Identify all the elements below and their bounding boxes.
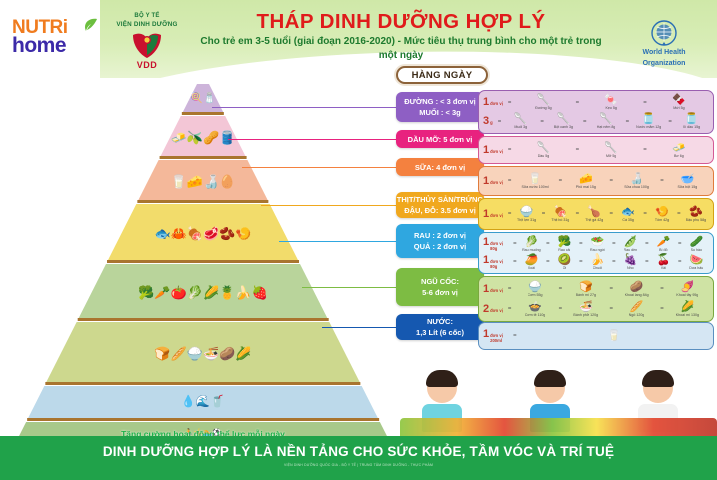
food-item: 🥭Xoài — [519, 254, 544, 271]
unit-label: 1đơn vị 80g — [483, 237, 508, 251]
food-caption: Ngô 120g — [629, 313, 645, 318]
food-item: 🥄Đường 5g — [513, 94, 573, 111]
food-item: 🥦Rau cải — [552, 236, 577, 253]
pyramid-tier-items: 🥦🥕🍅🥬🌽🍍🍌🍓 — [138, 286, 268, 299]
unit-label: 1đơn vị — [483, 209, 503, 220]
food-caption: Rau muống — [522, 248, 541, 253]
equals-sign: = — [576, 211, 580, 217]
unit-measure: đơn vị — [490, 288, 503, 293]
food-caption: Nước mắm 12g — [636, 125, 661, 130]
food-icon: 🥬 — [525, 236, 539, 248]
food-item: 🥛 — [519, 330, 709, 342]
label-chip-line: MUỐI : < 3g — [419, 107, 460, 118]
food-caption: Bí đỏ — [659, 248, 667, 253]
pyramid-tier-oils-fats: 🧈🫒🥜🛢️ — [160, 116, 247, 158]
food-icon: 🐟 — [621, 206, 635, 218]
footer-slogan: DINH DƯỠNG HỢP LÝ LÀ NỀN TẢNG CHO SỨC KH… — [0, 444, 717, 459]
brand-logo[interactable]: NUTRi home — [12, 20, 100, 55]
food-caption: Su hào — [691, 248, 702, 253]
equals-sign: = — [609, 306, 613, 312]
pyramid-tier-items: 🍬🍭🧂🍫 — [182, 94, 224, 104]
equals-sign: = — [677, 211, 681, 217]
equals-sign: = — [540, 119, 544, 125]
unit-count: 1 — [483, 329, 489, 340]
footer-subnote: VIỆN DINH DƯỠNG QUỐC GIA - BỘ Y TẾ | TRU… — [0, 463, 717, 467]
equals-sign: = — [579, 259, 583, 265]
pyramid-tier-separator — [160, 156, 247, 159]
unit-label: 3g — [483, 116, 493, 127]
equals-sign: = — [576, 147, 580, 153]
equals-sign: = — [576, 100, 580, 106]
unit-measure: đơn vị 80g — [490, 259, 508, 269]
food-row: 1đơn vị=🥄Đường 5g=🍬Kẹo 5g=🍫Mứt 5g — [483, 93, 709, 112]
food-icon: 🫙 — [642, 113, 656, 125]
food-row: 3g=🥄Muối 3g=🥄Bột canh 3g=🥄Hạt nêm 8g=🫙Nư… — [483, 112, 709, 131]
pyramid-tier-items: 🧈🫒🥜🛢️ — [171, 131, 236, 144]
food-item: 🧀Phô mai 15g — [564, 173, 607, 190]
food-caption: Khoai mì 130g — [676, 313, 699, 318]
equals-sign: = — [542, 211, 546, 217]
food-icon: 🍶 — [630, 173, 644, 185]
food-icon: 🥭 — [525, 254, 539, 266]
food-item: 🌽Khoai mì 130g — [666, 301, 709, 318]
connector-line-oils-fats — [228, 139, 397, 140]
food-icon: 🥄 — [537, 94, 551, 106]
food-icon: 🧈 — [672, 142, 686, 154]
kid-hair — [426, 370, 458, 387]
equals-sign: = — [643, 211, 647, 217]
equals-sign: = — [660, 286, 664, 292]
food-caption: Rau cải — [558, 248, 570, 253]
food-caption: Bánh phở 120g — [573, 313, 598, 318]
equals-sign: = — [609, 178, 613, 184]
food-item: 🫙Xì dầu 15g — [674, 113, 709, 130]
equals-sign: = — [579, 241, 583, 247]
food-icon: 🍇 — [623, 254, 637, 266]
equals-sign: = — [508, 211, 512, 217]
daily-badge: HÀNG NGÀY — [396, 66, 488, 84]
food-caption: Kẹo 5g — [605, 106, 616, 111]
food-item: 🥔Khoai lang 84g — [615, 281, 658, 298]
connector-line-cereals — [302, 287, 397, 288]
equals-sign: = — [559, 178, 563, 184]
food-item: 🍌Chuối — [585, 254, 610, 271]
who-emblem-icon — [651, 20, 677, 46]
pyramid-tier-protein: 🐟🦀🍖🥩🫘🍤 — [107, 204, 299, 262]
food-icon: 🥦 — [558, 236, 572, 248]
food-row: 1đơn vị=🥄Dầu 5g=🥄Mỡ 5g=🧈Bơ 6g — [483, 139, 709, 161]
food-icon: 🥄 — [537, 142, 551, 154]
unit-measure: đơn vị — [490, 180, 503, 185]
food-icon: 🥛 — [607, 330, 621, 342]
unit-measure: đơn vị — [490, 213, 503, 218]
equals-sign: = — [583, 119, 587, 125]
equals-sign: = — [546, 259, 550, 265]
pyramid-tier-items: 🥛🧀🍶🥚 — [171, 175, 236, 188]
food-caption: Bánh mì 27g — [576, 293, 596, 298]
label-chip-water: NƯỚC:1,3 Lít (6 cốc) — [396, 314, 484, 340]
food-item: 🍉Dưa hấu — [684, 254, 709, 271]
food-item: 🥝Ổi — [552, 254, 577, 271]
unit-label: 1đơn vị — [483, 176, 503, 187]
food-item: 🍞Bánh mì 27g — [564, 281, 607, 298]
pyramid-tier-separator — [78, 318, 329, 321]
food-icon: 🌽 — [681, 301, 695, 313]
protein-panel: 1đơn vị=🍚Thịt lợn 31g=🍖Thịt bò 31g=🍗Thịt… — [478, 198, 714, 230]
equals-sign: = — [645, 259, 649, 265]
brand-logo-line2: home — [12, 36, 100, 55]
label-chip-line: RAU : 2 đơn vị — [414, 230, 466, 241]
equals-sign: = — [678, 241, 682, 247]
unit-label: 2đơn vị — [483, 304, 503, 315]
food-caption: Cơm 55g — [528, 293, 543, 298]
food-row: 1đơn vị 80g=🥬Rau muống=🥦Rau cải=🥗Rau ngó… — [483, 235, 709, 253]
food-icon: 🫙 — [685, 113, 699, 125]
food-row: 1đơn vị=🍚Cơm 55g=🍞Bánh mì 27g=🥔Khoai lan… — [483, 279, 709, 299]
kid-hair — [642, 370, 674, 387]
oils-fats-panel: 1đơn vị=🥄Dầu 5g=🥄Mỡ 5g=🧈Bơ 6g — [478, 136, 714, 164]
daily-badge-label: HÀNG NGÀY — [412, 70, 473, 81]
unit-count: 3 — [483, 116, 489, 127]
food-caption: Nho — [627, 266, 634, 271]
food-caption: Thịt gà 42g — [585, 218, 603, 223]
food-icon: 🥄 — [514, 113, 528, 125]
connector-line-protein — [261, 205, 397, 206]
equals-sign: = — [643, 100, 647, 106]
food-caption: Hạt nêm 8g — [597, 125, 616, 130]
food-icon: 🍒 — [656, 254, 670, 266]
pyramid-tier-cereals: 🍞🥖🍚🍜🥔🌽 — [45, 322, 360, 384]
equals-sign: = — [498, 119, 502, 125]
kid-hair — [534, 370, 566, 387]
food-caption: Cá 35g — [622, 218, 634, 223]
food-caption: Vải — [661, 266, 666, 271]
equals-sign: = — [513, 259, 517, 265]
food-icon: 🥣 — [681, 173, 695, 185]
pyramid-tier-separator — [45, 382, 360, 385]
food-item: 🥕Bí đỏ — [651, 236, 676, 253]
unit-measure: g — [490, 120, 493, 125]
food-pyramid: 🍬🍭🧂🍫🧈🫒🥜🛢️🥛🧀🍶🥚🐟🦀🍖🥩🫘🍤🥦🥕🍅🥬🌽🍍🍌🍓🍞🥖🍚🍜🥔🌽💧🌊🥤🏃🤸🏊⚽… — [8, 84, 398, 444]
food-item: 🍫Mứt 5g — [649, 94, 709, 111]
food-icon: 🥄 — [604, 142, 618, 154]
food-caption: Cơm tẻ 110g — [525, 313, 546, 318]
food-item: 🫛Rau dền — [618, 236, 643, 253]
unit-label: 1đơn vị — [483, 97, 503, 108]
unit-count: 1 — [483, 209, 489, 220]
food-icon: 🍫 — [672, 94, 686, 106]
unit-count: 2 — [483, 304, 489, 315]
ministry-logo-block: BỘ Y TẾ VIỆN DINH DƯỠNG VDD — [108, 12, 186, 70]
label-chip-dairy: SỮA: 4 đơn vị — [396, 158, 484, 176]
food-item: 🥛Sữa nước 100ml — [513, 173, 556, 190]
children-photo-group — [400, 352, 717, 444]
food-icon: 🍲 — [528, 301, 542, 313]
dairy-panel: 1đơn vị=🥛Sữa nước 100ml=🧀Phô mai 15g=🍶Sữ… — [478, 166, 714, 196]
equals-sign: = — [508, 100, 512, 106]
unit-count: 1 — [483, 284, 489, 295]
equals-sign: = — [508, 147, 512, 153]
food-icon: 🍌 — [590, 254, 604, 266]
food-item: 🍬Kẹo 5g — [581, 94, 641, 111]
pyramid-tier-separator — [107, 260, 299, 263]
equals-sign: = — [660, 306, 664, 312]
food-row: 2đơn vị=🍲Cơm tẻ 110g=🍜Bánh phở 120g=🥖Ngô… — [483, 299, 709, 319]
food-icon: 🥒 — [689, 236, 703, 248]
unit-measure: đơn vị 80g — [490, 241, 508, 251]
food-item: 🍗Thịt gà 42g — [581, 206, 607, 223]
equals-sign: = — [546, 241, 550, 247]
unit-count: 1 — [483, 255, 489, 266]
label-chip-line: ĐẬU, ĐỖ: 3.5 đơn vị — [404, 205, 476, 216]
food-icon: 🥖 — [630, 301, 644, 313]
equals-sign: = — [612, 259, 616, 265]
label-chip-line: ĐƯỜNG : < 3 đơn vị — [404, 96, 476, 107]
food-icon: 🥄 — [599, 113, 613, 125]
food-item: 🐟Cá 35g — [615, 206, 641, 223]
food-caption: Đậu phụ 58g — [686, 218, 707, 223]
food-icon: 🍚 — [528, 281, 542, 293]
food-item: 🍶Sữa chua 100g — [615, 173, 658, 190]
equals-sign: = — [559, 286, 563, 292]
connector-line-vegetables-fruits — [279, 241, 397, 242]
food-icon: 🍞 — [579, 281, 593, 293]
unit-label: 1đơn vị — [483, 284, 503, 295]
food-item: 🥄Dầu 5g — [513, 142, 573, 159]
food-caption: Tôm 42g — [655, 218, 669, 223]
pyramid-tier-items: 🍞🥖🍚🍜🥔🌽 — [154, 347, 251, 360]
food-caption: Phô mai 15g — [576, 185, 596, 190]
label-chip-line: THỊT/THỦY SẢN/TRỨNG — [397, 194, 484, 205]
unit-label: 1đơn vị 200ml — [483, 329, 508, 343]
food-caption: Đường 5g — [535, 106, 551, 111]
food-caption: Sữa bột 15g — [677, 185, 697, 190]
ministry-line1: BỘ Y TẾ — [108, 12, 186, 20]
ministry-abbrev: VDD — [108, 61, 186, 70]
food-item: 🍲Cơm tẻ 110g — [513, 301, 556, 318]
label-chip-sugar-salt: ĐƯỜNG : < 3 đơn vịMUỐI : < 3g — [396, 92, 484, 122]
pyramid-tier-items: 🐟🦀🍖🥩🫘🍤 — [154, 227, 251, 240]
unit-count: 1 — [483, 176, 489, 187]
food-item: 🍚Cơm 55g — [513, 281, 556, 298]
food-item: 🥣Sữa bột 15g — [666, 173, 709, 190]
unit-count: 1 — [483, 97, 489, 108]
food-caption: Ổi — [563, 266, 567, 271]
who-line1: World Health — [618, 48, 710, 57]
food-item: 🥄Hạt nêm 8g — [589, 113, 624, 130]
sugar-salt-panel: 1đơn vị=🥄Đường 5g=🍬Kẹo 5g=🍫Mứt 5g3g=🥄Muố… — [478, 90, 714, 134]
food-caption: Mỡ 5g — [606, 154, 616, 159]
equals-sign: = — [508, 306, 512, 312]
food-item: 🥄Muối 3g — [503, 113, 538, 130]
equals-sign: = — [559, 306, 563, 312]
food-icon: 🫘 — [689, 206, 703, 218]
food-caption: Sữa chua 100g — [624, 185, 649, 190]
food-icon: 🥔 — [630, 281, 644, 293]
food-item: 🥖Ngô 120g — [615, 301, 658, 318]
kid-head — [643, 373, 673, 403]
label-chip-vegetables-fruits: RAU : 2 đơn vịQUẢ : 2 đơn vị — [396, 224, 484, 258]
food-caption: Xì dầu 15g — [683, 125, 700, 130]
food-item: 🍇Nho — [618, 254, 643, 271]
label-chip-line: 1,3 Lít (6 cốc) — [416, 327, 464, 338]
food-icon: 🥕 — [656, 236, 670, 248]
label-chip-cereals: NGŨ CỐC:5-6 đơn vị — [396, 268, 484, 306]
pyramid-tier-water: 💧🌊🥤 — [27, 386, 379, 420]
food-caption: Thịt bò 31g — [551, 218, 569, 223]
vegetables-fruits-panel: 1đơn vị 80g=🥬Rau muống=🥦Rau cải=🥗Rau ngó… — [478, 232, 714, 274]
label-chip-line: SỮA: 4 đơn vị — [415, 162, 465, 173]
page-subtitle: Cho trẻ em 3-5 tuổi (giai đoạn 2016-2020… — [196, 35, 606, 63]
food-icon: 🍉 — [689, 254, 703, 266]
food-icon: 🍖 — [554, 206, 568, 218]
infographic-root: NUTRi home BỘ Y TẾ VIỆN DINH DƯỠNG VDD T… — [0, 0, 717, 480]
unit-label: 1đơn vị — [483, 145, 503, 156]
label-chip-line: DẦU MỠ: 5 đơn vị — [408, 134, 473, 145]
page-title: THÁP DINH DƯỠNG HỢP LÝ — [196, 10, 606, 34]
food-row: 1đơn vị 80g=🥭Xoài=🥝Ổi=🍌Chuối=🍇Nho=🍒Vải=🍉… — [483, 253, 709, 271]
who-logo-block: World Health Organization — [618, 20, 710, 68]
food-icon: 🥛 — [528, 173, 542, 185]
food-item: 🫙Nước mắm 12g — [631, 113, 666, 130]
kid-head — [427, 373, 457, 403]
food-icon: 🍬 — [604, 94, 618, 106]
unit-measure: đơn vị — [490, 308, 503, 313]
kid-head — [535, 373, 565, 403]
vdd-logo-icon — [130, 31, 164, 61]
food-icon: 🧀 — [579, 173, 593, 185]
equals-sign: = — [626, 119, 630, 125]
connector-line-sugar-salt — [212, 107, 397, 108]
pyramid-tier-separator — [137, 200, 268, 203]
food-caption: Xoài — [528, 266, 535, 271]
food-caption: Chuối — [593, 266, 602, 271]
unit-measure: đơn vị — [490, 149, 503, 154]
food-item: 🫘Đậu phụ 58g — [683, 206, 709, 223]
food-caption: Sữa nước 100ml — [521, 185, 548, 190]
equals-sign: = — [678, 259, 682, 265]
food-item: 🥬Rau muống — [519, 236, 544, 253]
equals-sign: = — [513, 241, 517, 247]
connector-line-water — [322, 327, 397, 328]
equals-sign: = — [508, 178, 512, 184]
equals-sign: = — [609, 286, 613, 292]
water-panel: 1đơn vị 200ml=🥛 — [478, 322, 714, 350]
food-caption: Rau ngót — [590, 248, 605, 253]
food-caption: Bơ 6g — [674, 154, 684, 159]
equals-sign: = — [643, 147, 647, 153]
food-item: 🥄Bột canh 3g — [546, 113, 581, 130]
label-chip-line: NƯỚC: — [427, 316, 453, 327]
equals-sign: = — [612, 241, 616, 247]
food-icon: 🍚 — [520, 206, 534, 218]
food-icon: 🥝 — [558, 254, 572, 266]
label-chip-line: QUẢ : 2 đơn vị — [414, 241, 466, 252]
equals-sign: = — [513, 333, 517, 339]
equals-sign: = — [668, 119, 672, 125]
food-item: 🍚Thịt lợn 31g — [513, 206, 539, 223]
food-icon: 🥄 — [557, 113, 571, 125]
food-item: 🧈Bơ 6g — [649, 142, 709, 159]
title-block: THÁP DINH DƯỠNG HỢP LÝ Cho trẻ em 3-5 tu… — [196, 10, 606, 63]
equals-sign: = — [645, 241, 649, 247]
label-chip-line: NGŨ CỐC: — [421, 276, 459, 287]
food-item: 🥗Rau ngót — [585, 236, 610, 253]
food-caption: Khoai tây 95g — [676, 293, 698, 298]
unit-measure: đơn vị — [490, 101, 503, 106]
food-caption: Mứt 5g — [673, 106, 684, 111]
equals-sign: = — [660, 178, 664, 184]
food-caption: Bột canh 3g — [554, 125, 573, 130]
food-caption: Dưa hấu — [689, 266, 703, 271]
food-item: 🍖Thịt bò 31g — [547, 206, 573, 223]
food-row: 1đơn vị=🥛Sữa nước 100ml=🧀Phô mai 15g=🍶Sữ… — [483, 169, 709, 193]
food-caption: Khoai lang 84g — [625, 293, 649, 298]
food-icon: 🍜 — [579, 301, 593, 313]
pyramid-tier-sugar-salt: 🍬🍭🧂🍫 — [182, 84, 224, 114]
food-item: 🍤Tôm 42g — [649, 206, 675, 223]
food-row: 1đơn vị 200ml=🥛 — [483, 325, 709, 347]
food-item: 🍒Vải — [651, 254, 676, 271]
food-icon: 🍗 — [587, 206, 601, 218]
ministry-line2: VIỆN DINH DƯỠNG — [108, 20, 186, 29]
equals-sign: = — [609, 211, 613, 217]
unit-count: 1 — [483, 237, 489, 248]
unit-measure: đơn vị 200ml — [490, 333, 508, 343]
food-icon: 🍠 — [681, 281, 695, 293]
food-row: 1đơn vị=🍚Thịt lợn 31g=🍖Thịt bò 31g=🍗Thịt… — [483, 201, 709, 227]
connector-line-dairy — [242, 167, 397, 168]
food-caption: Thịt lợn 31g — [517, 218, 536, 223]
food-item: 🥒Su hào — [684, 236, 709, 253]
food-caption: Rau dền — [624, 248, 638, 253]
equals-sign: = — [508, 286, 512, 292]
label-chip-line: 5-6 đơn vị — [422, 287, 458, 298]
unit-label: 1đơn vị 80g — [483, 255, 508, 269]
leaf-icon — [82, 18, 98, 32]
cereals-panel: 1đơn vị=🍚Cơm 55g=🍞Bánh mì 27g=🥔Khoai lan… — [478, 276, 714, 322]
label-chip-protein: THỊT/THỦY SẢN/TRỨNGĐẬU, ĐỖ: 3.5 đơn vị — [396, 192, 484, 218]
label-chip-oils-fats: DẦU MỠ: 5 đơn vị — [396, 130, 484, 148]
food-item: 🍜Bánh phở 120g — [564, 301, 607, 318]
pyramid-tier-items: 💧🌊🥤 — [181, 397, 224, 409]
food-icon: 🥗 — [590, 236, 604, 248]
footer-banner: DINH DƯỠNG HỢP LÝ LÀ NỀN TẢNG CHO SỨC KH… — [0, 436, 717, 480]
unit-count: 1 — [483, 145, 489, 156]
food-caption: Dầu 5g — [538, 154, 550, 159]
food-icon: 🫛 — [623, 236, 637, 248]
food-item: 🍠Khoai tây 95g — [666, 281, 709, 298]
pyramid-tier-separator — [27, 418, 379, 421]
who-line2: Organization — [618, 59, 710, 68]
pyramid-tier-separator — [182, 112, 224, 115]
food-item: 🥄Mỡ 5g — [581, 142, 641, 159]
food-icon: 🍤 — [655, 206, 669, 218]
pyramid-tier-vegetables-fruits: 🥦🥕🍅🥬🌽🍍🍌🍓 — [78, 264, 329, 320]
food-caption: Muối 3g — [514, 125, 527, 130]
